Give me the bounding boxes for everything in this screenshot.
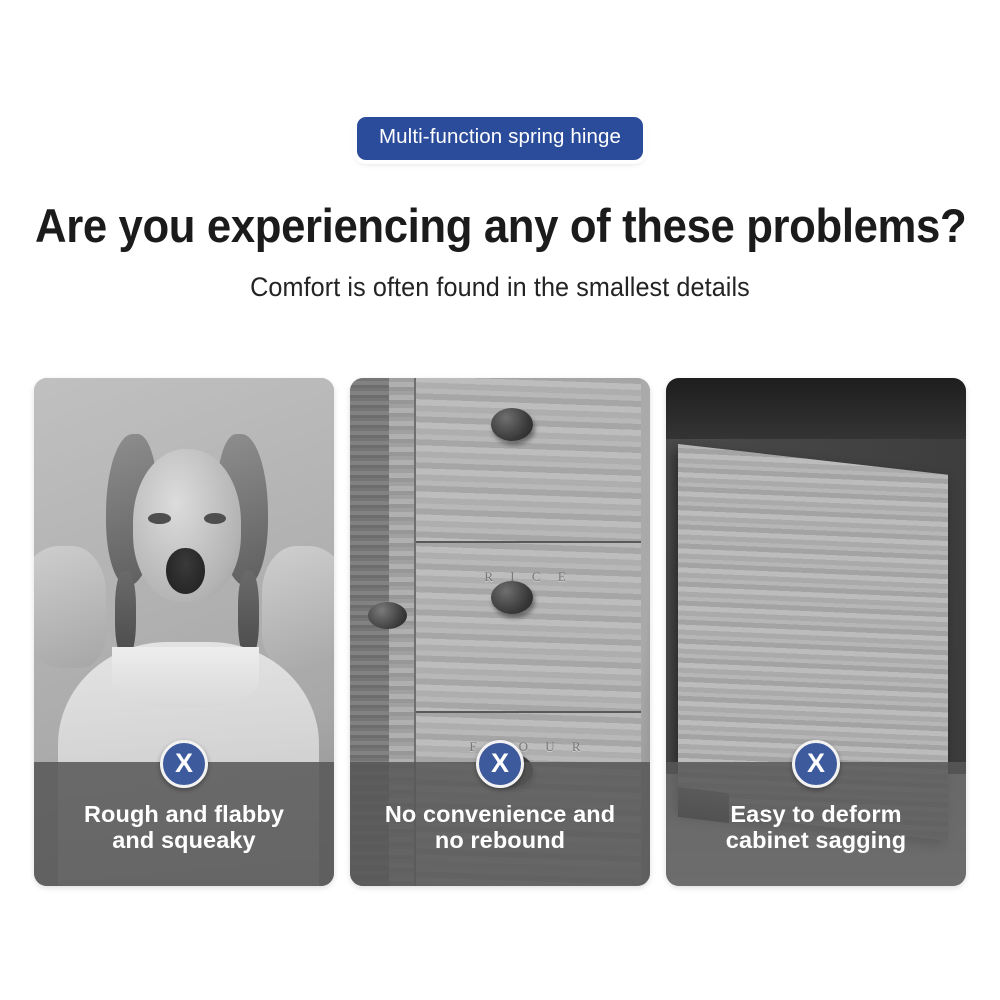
product-feature-page: Multi-function spring hinge Are you expe… [0,0,1000,1000]
problem-card-noise: X Rough and flabby and squeaky [34,378,334,886]
card-caption-text: No convenience and no rebound [385,801,615,854]
drawer-engraving-flour: F L O U R [416,739,641,755]
drawer-engraving-rice: R I C E [416,569,641,585]
problem-card-drawers: R I C E F L O U R X No convenience and n… [350,378,650,886]
product-category-badge: Multi-function spring hinge [357,117,643,160]
page-subheadline: Comfort is often found in the smallest d… [25,272,975,303]
x-mark-label: X [491,750,509,777]
page-headline: Are you experiencing any of these proble… [35,198,965,253]
card-caption-text: Rough and flabby and squeaky [84,801,284,854]
drawer-knob-icon [491,581,533,614]
door-knob-icon [368,602,407,629]
problem-cards-row: X Rough and flabby and squeaky R I C E F… [34,378,966,886]
x-mark-icon: X [792,740,840,788]
problem-card-sagging: X Easy to deform cabinet sagging [666,378,966,886]
x-mark-icon: X [160,740,208,788]
x-mark-label: X [807,750,825,777]
badge-row: Multi-function spring hinge [0,117,1000,160]
card-caption-text: Easy to deform cabinet sagging [726,801,906,854]
x-mark-label: X [175,750,193,777]
x-mark-icon: X [476,740,524,788]
